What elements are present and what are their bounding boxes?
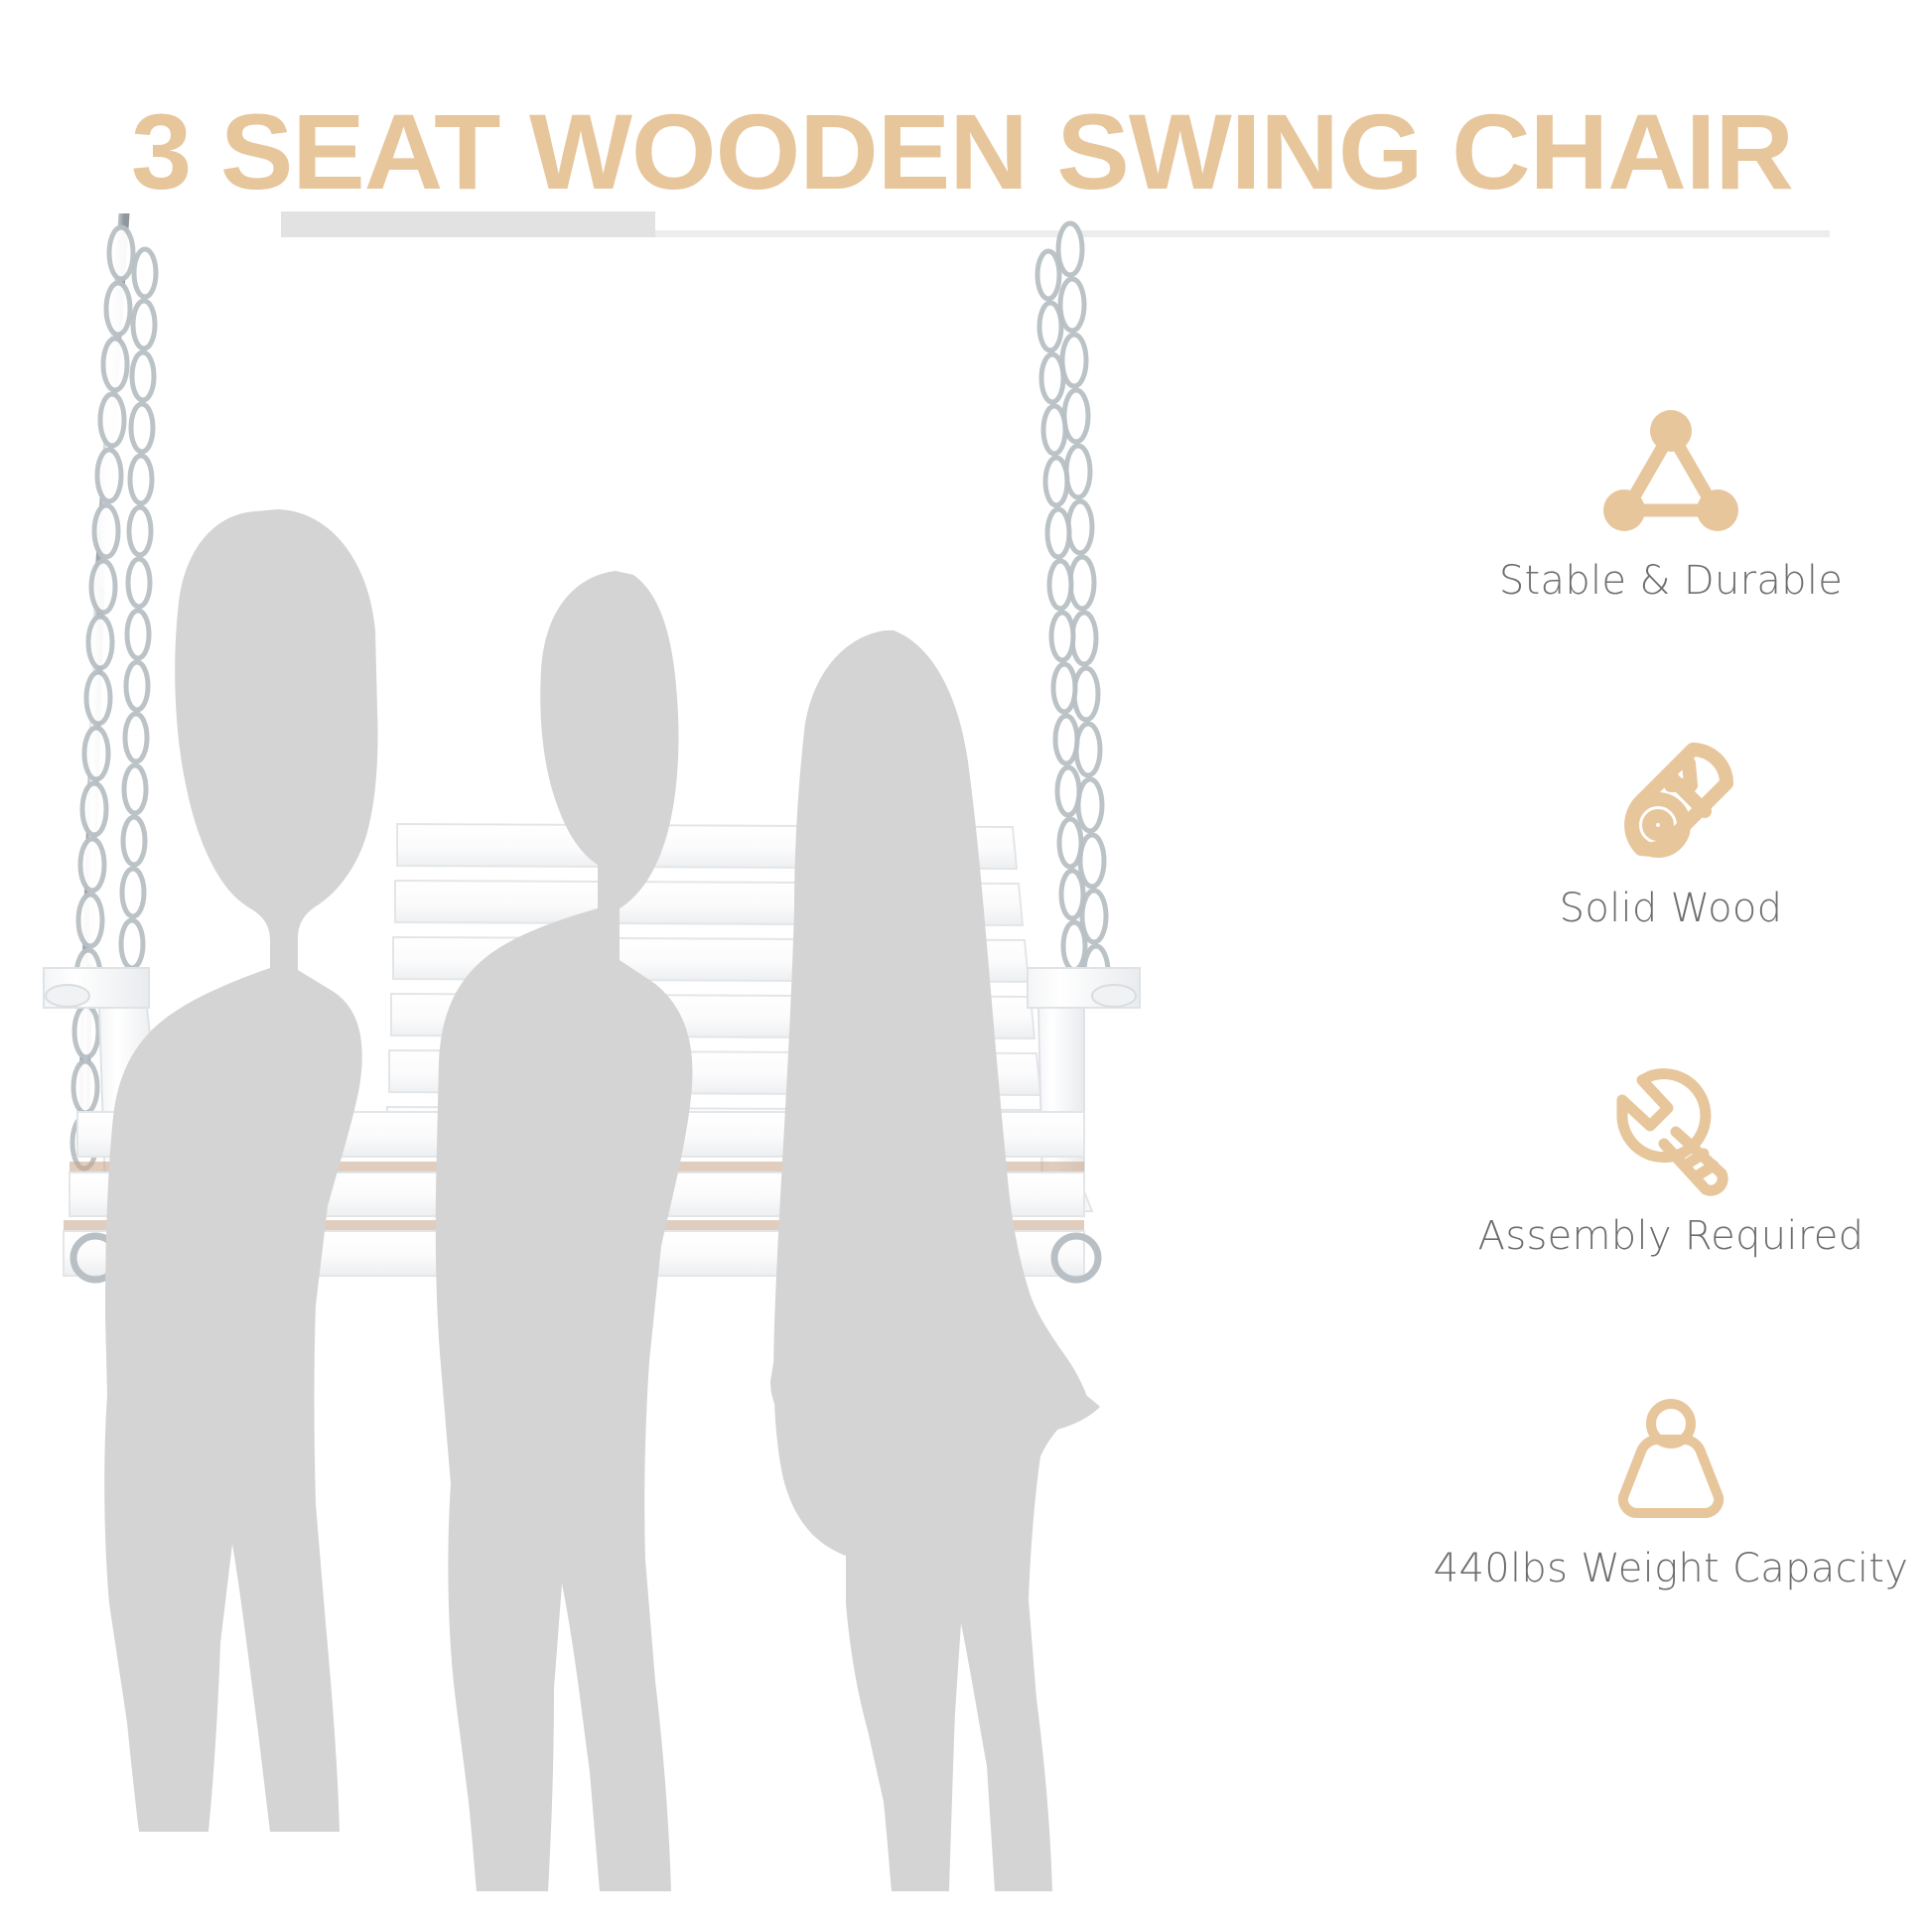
wood-log-icon (1410, 725, 1932, 874)
feature-item-stable-durable: Stable & Durable (1410, 397, 1932, 604)
product-image (0, 213, 1410, 1932)
wrench-icon (1410, 1052, 1932, 1201)
feature-item-assembly-required: Assembly Required (1410, 1052, 1932, 1259)
feature-list: Stable & Durable Solid Wood (1410, 397, 1932, 1718)
feature-label: 440lbs Weight Capacity (1410, 1546, 1932, 1591)
feature-item-weight-capacity: 440lbs Weight Capacity (1410, 1385, 1932, 1591)
weight-icon (1410, 1385, 1932, 1534)
silhouette-person-1 (104, 509, 377, 1832)
cup-holder-right (1092, 985, 1136, 1007)
triangle-stability-icon (1410, 397, 1932, 546)
feature-label: Stable & Durable (1410, 558, 1932, 604)
feature-label: Assembly Required (1410, 1213, 1932, 1259)
silhouette-person-2 (436, 571, 693, 1891)
page-title: 3 SEAT WOODEN SWING CHAIR (131, 93, 1853, 210)
people-silhouettes (104, 509, 1100, 1891)
feature-label: Solid Wood (1410, 886, 1932, 931)
feature-item-solid-wood: Solid Wood (1410, 725, 1932, 931)
suspension-chain-right (1037, 223, 1108, 998)
cup-holder-left (46, 985, 89, 1007)
